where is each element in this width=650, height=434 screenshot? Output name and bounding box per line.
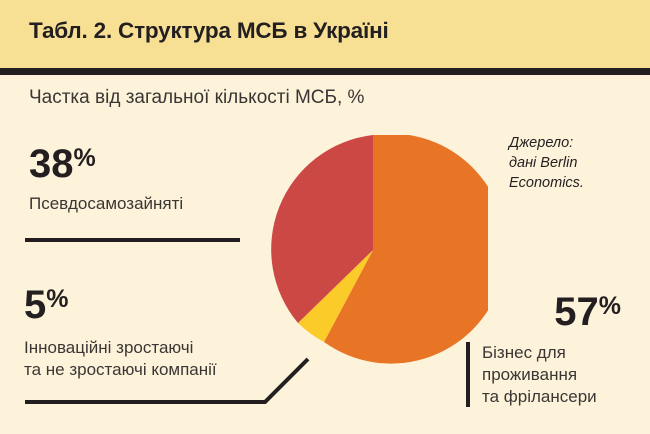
callout-pseudo: 38% Псевдосамозайняті: [29, 144, 183, 215]
callout-pseudo-value: 38%: [29, 144, 183, 184]
callout-innovative-percent: %: [46, 285, 68, 313]
callout-pseudo-percent: %: [74, 144, 96, 172]
callout-innovative-label-line-1: Інноваційні зростаючі: [24, 337, 217, 359]
callout-business-label-line-1: Бізнес для: [482, 342, 621, 364]
callout-business-label-line-3: та фрілансери: [482, 386, 621, 408]
chart-subtitle: Частка від загальної кількості МСБ, %: [29, 87, 364, 109]
callout-innovative: 5% Інноваційні зростаючі та не зростаючі…: [24, 285, 217, 381]
callout-pseudo-rule: [25, 238, 240, 242]
source-line-1: Джерело:: [509, 133, 644, 153]
callout-innovative-value: 5%: [24, 285, 217, 325]
infographic-root: Табл. 2. Структура МСБ в Україні Частка …: [0, 0, 650, 434]
source-line-3: Economics.: [509, 173, 644, 193]
callout-business-label-line-2: проживання: [482, 364, 621, 386]
callout-business-number: 57: [554, 290, 599, 334]
source-note: Джерело: дані Berlin Economics.: [509, 133, 644, 193]
callout-business-value: 57%: [466, 292, 621, 332]
header-divider: [0, 68, 650, 75]
page-title: Табл. 2. Структура МСБ в Україні: [29, 18, 389, 44]
callout-innovative-label-line-2: та не зростаючі компанії: [24, 359, 217, 381]
callout-pseudo-label: Псевдосамозайняті: [29, 193, 183, 215]
pie-chart: [258, 135, 488, 365]
callout-innovative-number: 5: [24, 283, 46, 327]
callout-business-percent: %: [599, 292, 621, 320]
callout-pseudo-number: 38: [29, 142, 74, 186]
callout-business-label: Бізнес для проживання та фрілансери: [466, 342, 621, 407]
source-line-2: дані Berlin: [509, 153, 644, 173]
callout-innovative-label: Інноваційні зростаючі та не зростаючі ко…: [24, 337, 217, 381]
callout-business: 57% Бізнес для проживання та фрілансери: [466, 292, 621, 407]
